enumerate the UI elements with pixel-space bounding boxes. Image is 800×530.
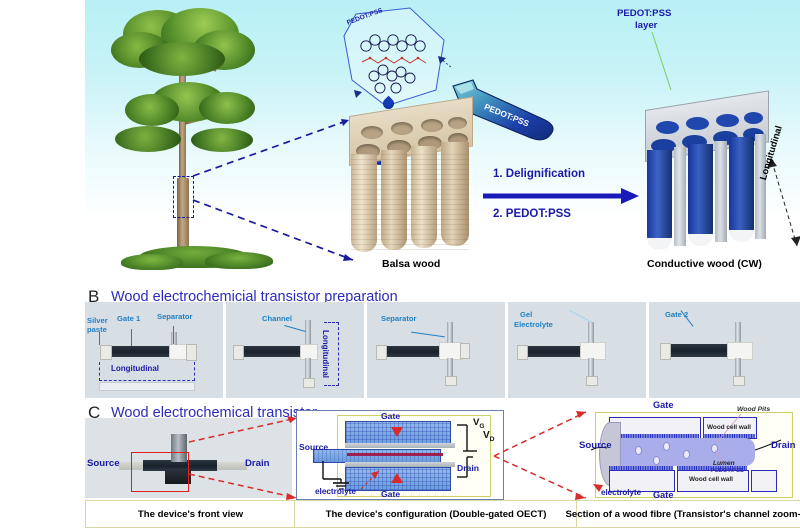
silver-paste-label-2: paste [87, 325, 107, 334]
silver-paste-label-1: Silver [87, 316, 108, 325]
conductive-wood-label: Conductive wood (CW) [647, 258, 762, 270]
wood-cell-wall-label-top: Wood cell wall [707, 424, 751, 431]
wood-fibre-section: Gate Gate Drain Wood Pits Wood cell wall… [585, 406, 800, 498]
process-step-1: 1. Delignification [493, 168, 585, 180]
caption-configuration: The device's configuration (Double-gated… [294, 500, 578, 528]
longitudinal-label-b1: Longitudinal [111, 364, 159, 373]
prep-step-3: Separator [367, 302, 505, 398]
longitudinal-label-b2: Longitudinal [321, 330, 330, 378]
prep-step-4: Gel Electrolyte [508, 302, 646, 398]
drain-label-fibre: Drain [771, 440, 796, 451]
panel-a-illustration: PEDOT:PSS PEDOT:PSS [85, 0, 800, 282]
pedot-layer-leader [605, 30, 725, 140]
caption-front-view-text: The device's front view [138, 509, 243, 520]
wood-cell-wall-label-bottom: Wood cell wall [689, 476, 733, 483]
zoom-connector-1 [181, 412, 311, 504]
gel-label-1: Gel [520, 310, 532, 319]
panel-c-transistor: Source Drain [85, 400, 800, 530]
pedot-molecule-callout: PEDOT:PSS [340, 6, 455, 111]
caption-fibre-section-text: Section of a wood fibre (Transistor's ch… [566, 509, 800, 520]
channel-label: Channel [262, 314, 292, 323]
vg-label: VG [473, 417, 485, 430]
source-label-fibre: Source [579, 440, 612, 451]
process-step-2: 2. PEDOT:PSS [493, 208, 571, 220]
gate-top-label: Gate [381, 411, 400, 421]
balsa-wood-label: Balsa wood [382, 258, 440, 270]
separator-label-1: Separator [157, 312, 192, 321]
device-configuration-schematic: Gate Gate Source VG Drain electrolyte [296, 410, 504, 500]
gate-bottom-label-fibre: Gate [653, 490, 673, 500]
prep-step-2: Channel Longitudinal [226, 302, 364, 398]
source-label-config: Source [299, 442, 328, 452]
caption-fibre-section: Section of a wood fibre (Transistor's ch… [576, 500, 800, 528]
pedot-layer-label-line1: PEDOT:PSS [617, 8, 671, 19]
electrolyte-label-fibre: electrolyte [601, 488, 641, 497]
gate-top-label-fibre: Gate [653, 400, 673, 410]
prep-step-1: Silver paste Gate 1 Separator Longitudin… [85, 302, 223, 398]
wood-pits-label: Wood Pits [737, 406, 770, 413]
lumen-label: Lumen [713, 460, 735, 467]
gate-bottom-label: Gate [381, 489, 400, 499]
gel-label-2: Electrolyte [514, 320, 553, 329]
figure-root: A [0, 0, 800, 530]
prep-step-5: Gate 2 [649, 302, 800, 398]
balsa-wood-block [349, 116, 471, 256]
zoom-connector-2 [490, 408, 600, 502]
drain-label-config: Drain [457, 463, 479, 473]
gate2-label: Gate 2 [665, 310, 688, 319]
caption-front-view: The device's front view [85, 500, 296, 528]
gate1-label: Gate 1 [117, 314, 140, 323]
process-arrow [483, 186, 643, 208]
separator-label-3: Separator [381, 314, 416, 323]
pedot-pss-label-fibre: PEDOT:PSS [711, 468, 744, 474]
caption-configuration-text: The device's configuration (Double-gated… [326, 509, 547, 520]
panel-b-preparation-steps: Silver paste Gate 1 Separator Longitudin… [85, 282, 800, 400]
source-label-front: Source [87, 458, 120, 469]
